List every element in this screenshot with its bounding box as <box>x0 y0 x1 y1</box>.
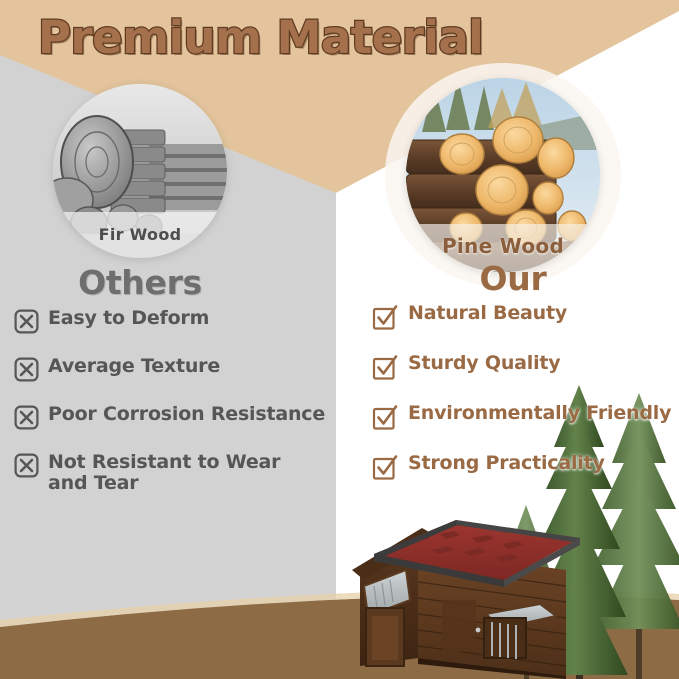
list-item: Easy to Deform <box>14 308 336 334</box>
x-mark-box-icon <box>14 453 39 478</box>
list-item: Average Texture <box>14 356 336 382</box>
pine-wood-caption: Pine Wood <box>406 234 600 258</box>
check-mark-box-icon <box>372 454 397 479</box>
others-heading: Others <box>40 263 240 302</box>
check-mark-box-icon <box>372 354 397 379</box>
x-mark-box-icon <box>14 309 39 334</box>
list-item-label: Sturdy Quality <box>408 353 560 374</box>
list-item-label: Strong Practicality <box>408 453 605 474</box>
list-item: Environmentally Friendly <box>372 403 672 429</box>
list-item: Sturdy Quality <box>372 353 672 379</box>
list-item: Not Resistant to Wear and Tear <box>14 452 336 495</box>
list-item-label: Easy to Deform <box>48 308 209 329</box>
page-title: Premium Material <box>38 11 483 64</box>
list-item-label: Not Resistant to Wear and Tear <box>48 452 300 495</box>
list-item-label: Environmentally Friendly <box>408 403 671 424</box>
fir-wood-photo-circle: Fir Wood <box>53 84 227 258</box>
check-mark-box-icon <box>372 304 397 329</box>
list-item: Natural Beauty <box>372 303 672 329</box>
x-mark-box-icon <box>14 405 39 430</box>
x-mark-box-icon <box>14 357 39 382</box>
our-feature-list: Natural Beauty Sturdy Quality Environmen… <box>372 303 672 503</box>
premium-material-poster: Premium Material <box>0 0 679 679</box>
list-item-label: Poor Corrosion Resistance <box>48 404 325 425</box>
list-item-label: Average Texture <box>48 356 220 377</box>
fir-wood-caption: Fir Wood <box>53 225 227 244</box>
our-heading: Our <box>413 259 613 298</box>
pine-wood-photo-circle: Pine Wood <box>406 78 600 272</box>
list-item-label: Natural Beauty <box>408 303 567 324</box>
others-feature-list: Easy to Deform Average Texture Poor <box>14 308 336 517</box>
list-item: Poor Corrosion Resistance <box>14 404 336 430</box>
wooden-dog-house-photo <box>344 508 591 679</box>
list-item: Strong Practicality <box>372 453 672 479</box>
check-mark-box-icon <box>372 404 397 429</box>
